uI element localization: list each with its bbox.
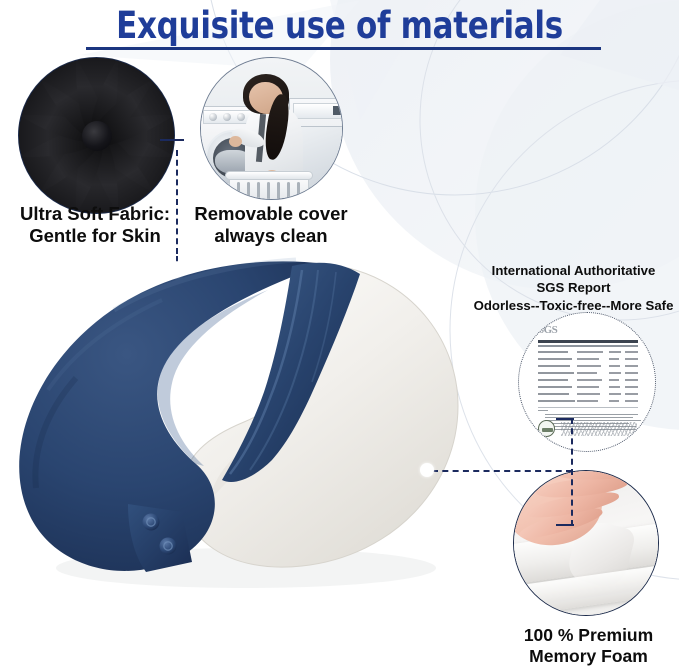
sgs-label-line1: International Authoritative xyxy=(468,262,679,279)
page-title: Exquisite use of materials xyxy=(24,4,655,47)
removable-cover-label: Removable cover always clean xyxy=(186,203,356,247)
removable-cover-photo xyxy=(200,57,343,200)
sgs-lead-line xyxy=(556,418,574,420)
foam-label-line1: 100 % Premium xyxy=(498,625,679,646)
right-callout-riser-line xyxy=(571,418,573,526)
ultra-soft-fabric-photo xyxy=(18,57,175,214)
marker-dot-foam xyxy=(420,463,434,477)
sgs-logo: SGS xyxy=(538,324,557,336)
fabric-swirl-graphic xyxy=(19,58,174,213)
ultra-soft-fabric-label: Ultra Soft Fabric: Gentle for Skin xyxy=(6,203,184,247)
fabric-label-line1: Ultra Soft Fabric: xyxy=(6,203,184,225)
sgs-label-line2: SGS Report xyxy=(468,279,679,296)
sgs-report-photo: SGS xyxy=(518,312,656,452)
fabric-lead-line xyxy=(160,139,184,141)
foam-label-line2: Memory Foam xyxy=(498,646,679,667)
sgs-label-line3: Odorless--Toxic-free--More Safe xyxy=(468,297,679,314)
foam-callout-dashed-line xyxy=(432,470,572,472)
title-underline xyxy=(86,47,601,50)
cover-label-line1: Removable cover xyxy=(186,203,356,225)
fabric-label-line2: Gentle for Skin xyxy=(6,225,184,247)
sgs-stamp xyxy=(538,420,555,437)
foam-lead-line xyxy=(556,524,574,526)
marker-dot-cover xyxy=(169,263,183,277)
sgs-document: SGS xyxy=(535,324,641,442)
infographic-canvas: Exquisite use of materials xyxy=(0,0,679,671)
memory-foam-photo xyxy=(513,470,659,616)
sgs-report-label: International Authoritative SGS Report O… xyxy=(468,262,679,314)
cover-label-line2: always clean xyxy=(186,225,356,247)
memory-foam-label: 100 % Premium Memory Foam xyxy=(498,625,679,666)
travel-neck-pillow-illustration xyxy=(0,250,466,595)
